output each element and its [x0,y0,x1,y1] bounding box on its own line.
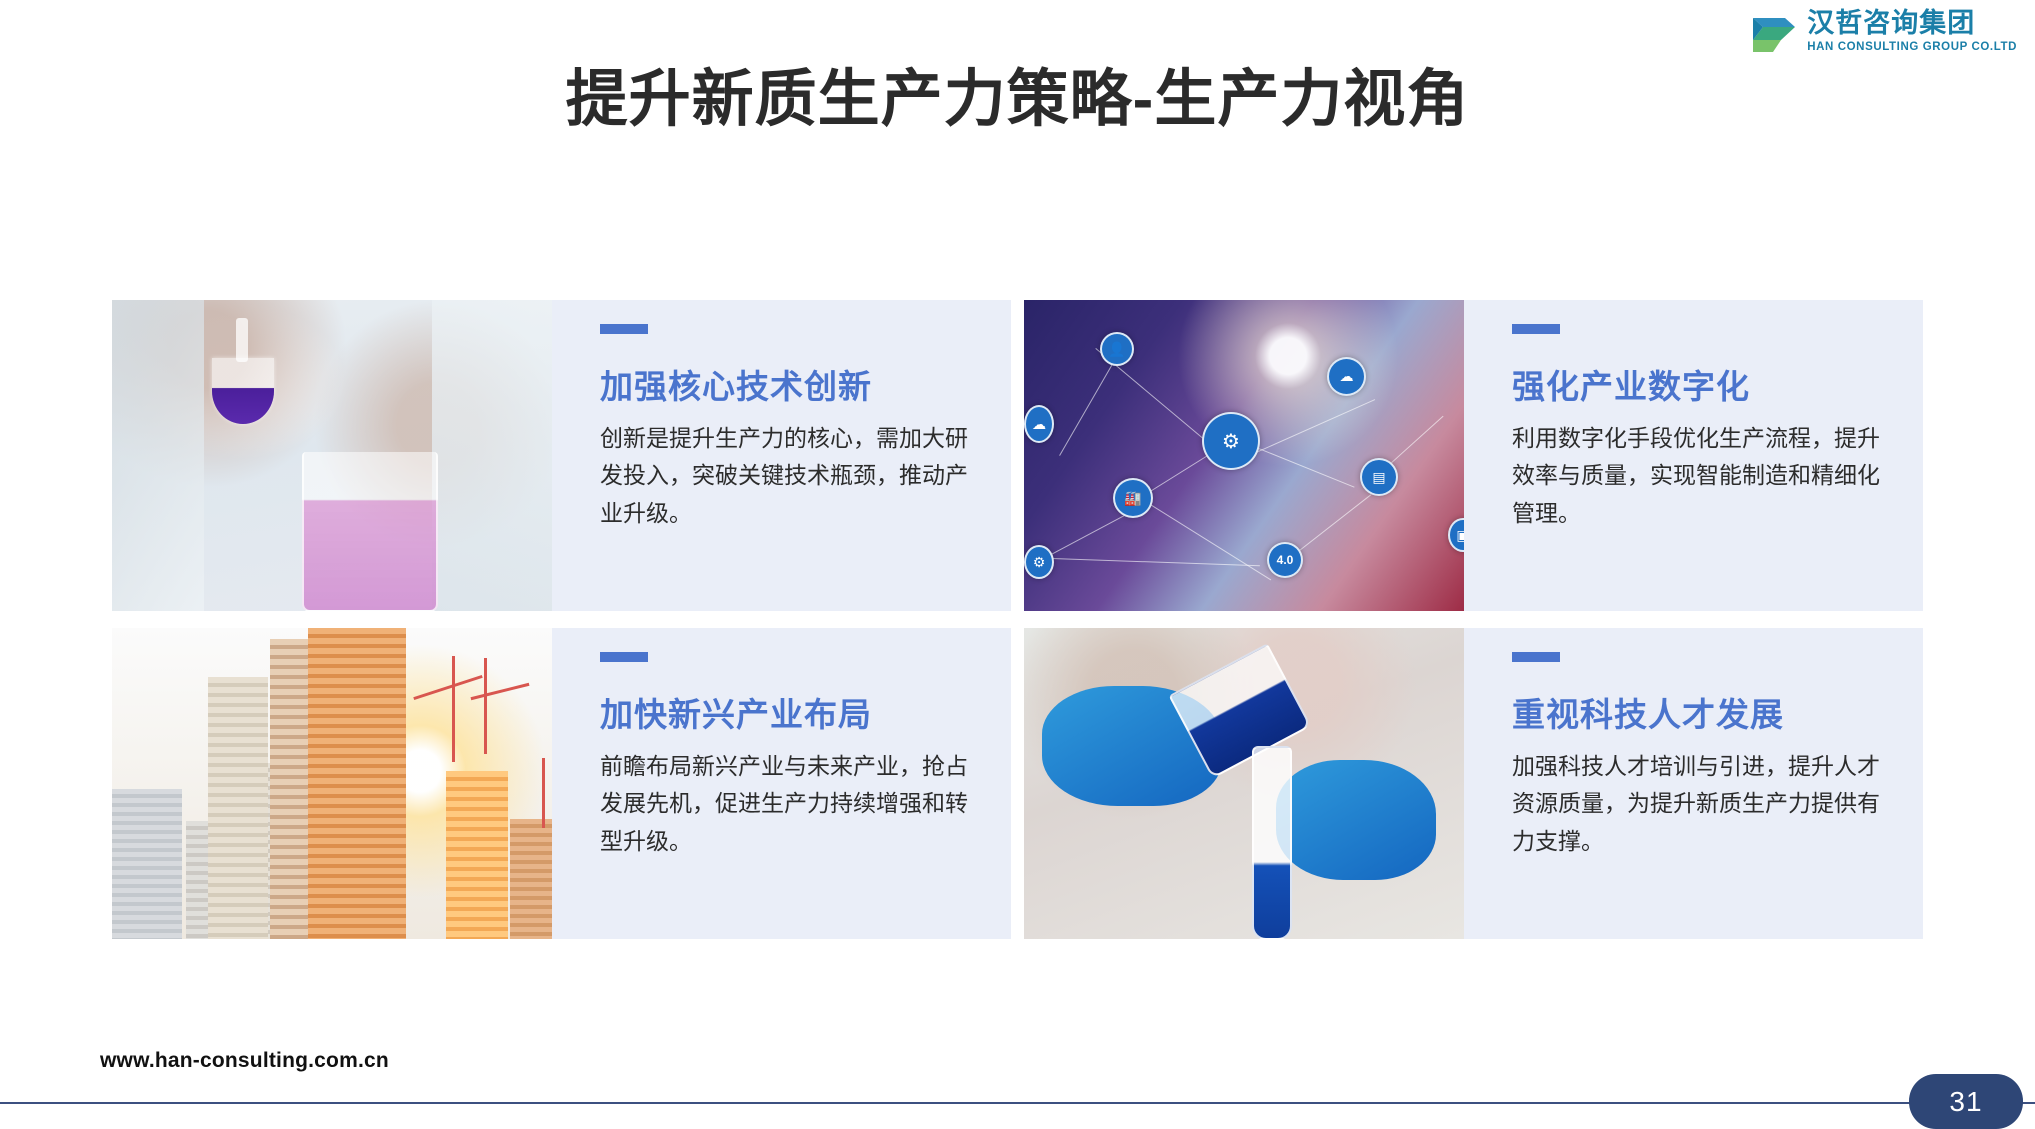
card-2-body: 强化产业数字化 利用数字化手段优化生产流程，提升效率与质量，实现智能制造和精细化… [1464,300,1923,611]
building-shape [208,677,268,939]
card-3-image [112,628,552,939]
card-2-title: 强化产业数字化 [1512,360,1889,408]
crane-shape [471,683,530,700]
crane-shape [542,758,545,828]
building-shape [446,771,508,939]
building-shape [112,789,182,939]
footer-website-url[interactable]: www.han-consulting.com.cn [100,1049,389,1073]
network-link [1059,352,1120,456]
page-number-badge: 31 [1909,1074,2023,1129]
page-title: 提升新质生产力策略-生产力视角 [0,48,2035,138]
robot-icon: ⚙ [1024,545,1054,579]
factory-icon: 🏭 [1113,478,1153,518]
device-icon: ▣ [1448,518,1464,552]
lab-coat-left-shape [112,300,204,611]
card-2-accent-bar [1512,324,1560,334]
card-1-title: 加强核心技术创新 [600,360,977,408]
card-4-title: 重视科技人才发展 [1512,688,1889,736]
gloved-hand-shape [1276,760,1436,880]
strategy-card-1: 加强核心技术创新 创新是提升生产力的核心，需加大研发投入，突破关键技术瓶颈，推动… [112,300,1011,611]
card-4-accent-bar [1512,652,1560,662]
card-2-description: 利用数字化手段优化生产流程，提升效率与质量，实现智能制造和精细化管理。 [1512,420,1889,532]
card-2-image: 👤 ☁ ⚙ 🏭 ▤ ☁ ⚙ 4.0 ▣ [1024,300,1464,611]
strategy-card-grid: 加强核心技术创新 创新是提升生产力的核心，需加大研发投入，突破关键技术瓶颈，推动… [112,300,1923,939]
crane-shape [484,658,487,754]
card-1-image [112,300,552,611]
card-3-description: 前瞻布局新兴产业与未来产业，抢占发展先机，促进生产力持续增强和转型升级。 [600,748,977,860]
card-4-description: 加强科技人才培训与引进，提升人才资源质量，为提升新质生产力提供有力支撑。 [1512,748,1889,860]
wifi-icon: ☁ [1327,357,1366,396]
building-shape [510,819,552,939]
crane-shape [452,656,455,762]
card-1-accent-bar [600,324,648,334]
test-tube-shape [1252,746,1292,939]
strategy-card-3: 加快新兴产业布局 前瞻布局新兴产业与未来产业，抢占发展先机，促进生产力持续增强和… [112,628,1011,939]
card-3-title: 加快新兴产业布局 [600,688,977,736]
card-1-body: 加强核心技术创新 创新是提升生产力的核心，需加大研发投入，突破关键技术瓶颈，推动… [552,300,1011,611]
card-3-body: 加快新兴产业布局 前瞻布局新兴产业与未来产业，抢占发展先机，促进生产力持续增强和… [552,628,1011,939]
footer-divider [0,1102,2035,1104]
network-link [1256,399,1375,453]
strategy-card-2: 👤 ☁ ⚙ 🏭 ▤ ☁ ⚙ 4.0 ▣ 强化产业数字化 利用数字化手段优化生产流… [1024,300,1923,611]
flask-shape [212,358,274,424]
card-3-accent-bar [600,652,648,662]
cloud-icon: ☁ [1024,405,1054,443]
gears-icon: ⚙ [1202,412,1260,470]
worker-icon: 👤 [1100,332,1134,366]
industry-4-0-icon: 4.0 [1267,542,1303,578]
card-1-description: 创新是提升生产力的核心，需加大研发投入，突破关键技术瓶颈，推动产业升级。 [600,420,977,532]
lab-coat-right-shape [432,300,552,611]
building-shape [308,628,406,939]
beaker-shape [302,452,438,611]
card-4-body: 重视科技人才发展 加强科技人才培训与引进，提升人才资源质量，为提升新质生产力提供… [1464,628,1923,939]
server-icon: ▤ [1360,458,1398,496]
logo-chinese-name: 汉哲咨询集团 [1807,10,2017,37]
card-4-image [1024,628,1464,939]
strategy-card-4: 重视科技人才发展 加强科技人才培训与引进，提升人才资源质量，为提升新质生产力提供… [1024,628,1923,939]
network-link [1052,558,1260,566]
network-link [1143,500,1271,580]
